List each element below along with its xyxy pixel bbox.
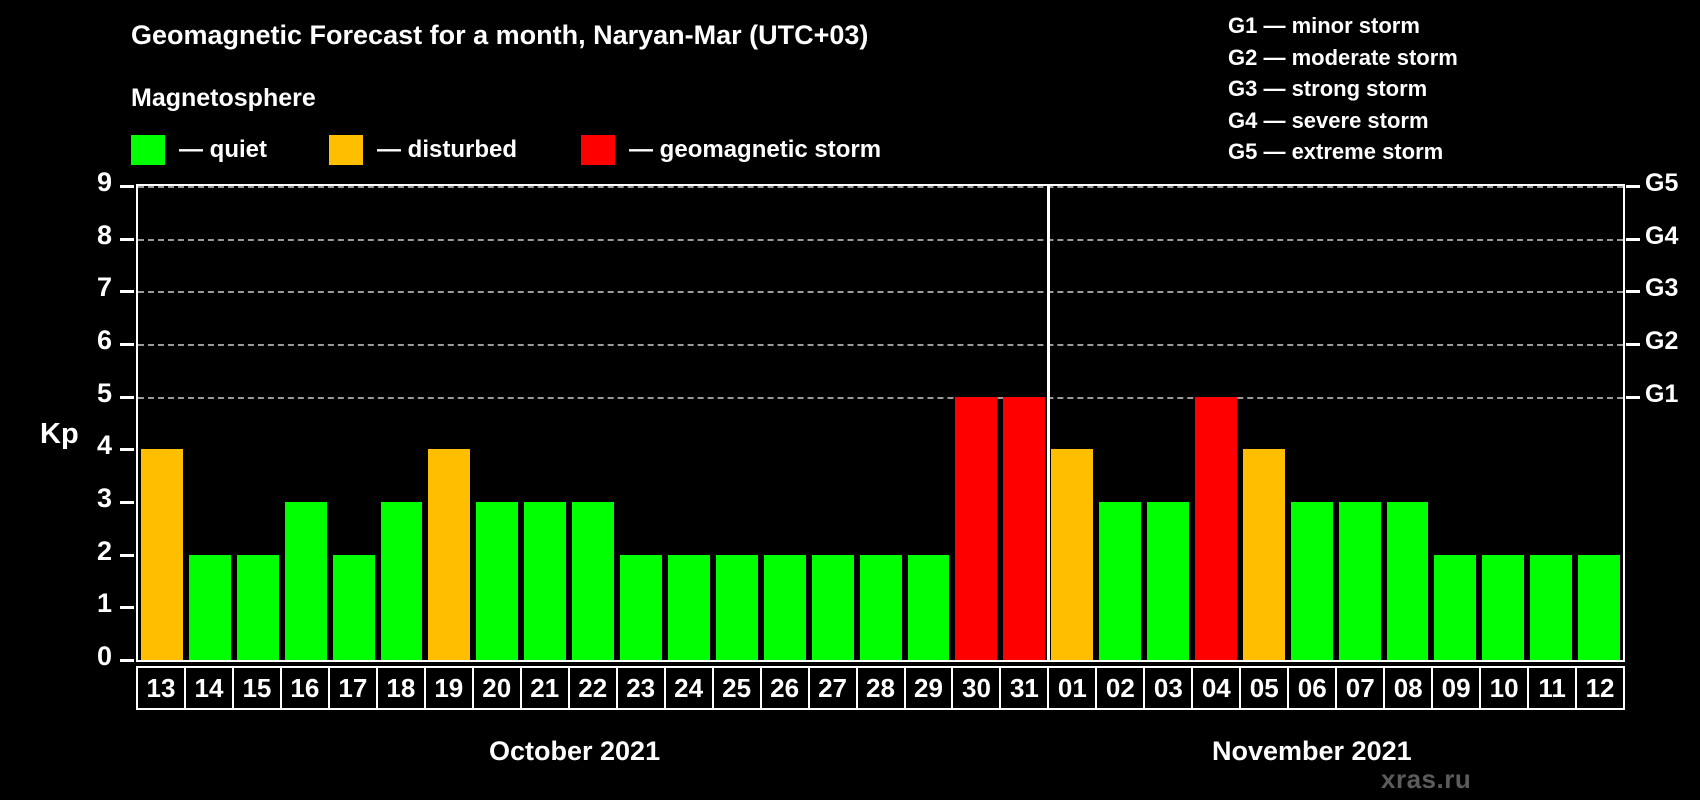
bar-cell[interactable] [617, 186, 665, 660]
y-tick-mark [120, 343, 134, 346]
bar[interactable] [1434, 555, 1476, 660]
bar[interactable] [860, 555, 902, 660]
gscale-line: G2 — moderate storm [1228, 42, 1458, 74]
y-tick-label: 3 [62, 483, 112, 514]
day-label-cell[interactable]: 02 [1095, 666, 1145, 710]
bar-cell[interactable] [138, 186, 186, 660]
y-tick-mark [120, 238, 134, 241]
chart-page: Geomagnetic Forecast for a month, Naryan… [0, 0, 1700, 800]
g-tick-mark [1626, 343, 1640, 346]
bar[interactable] [764, 555, 806, 660]
day-label-cell[interactable]: 11 [1527, 666, 1577, 710]
bar[interactable] [1003, 397, 1045, 660]
bar[interactable] [1530, 555, 1572, 660]
bar-cell[interactable] [521, 186, 569, 660]
bar[interactable] [1195, 397, 1237, 660]
y-tick-mark [120, 185, 134, 188]
bar-cell[interactable] [1527, 186, 1575, 660]
watermark: xras.ru [1381, 764, 1471, 795]
legend-item-label: — disturbed [377, 136, 517, 164]
bar-cell[interactable] [713, 186, 761, 660]
day-label-cell[interactable]: 13 [136, 666, 186, 710]
day-label-cell[interactable]: 23 [616, 666, 666, 710]
bar[interactable] [1147, 502, 1189, 660]
day-label-cell[interactable]: 14 [184, 666, 234, 710]
disturbed-swatch [329, 135, 363, 165]
bar-cell[interactable] [1048, 186, 1096, 660]
g-tick-label: G3 [1645, 274, 1678, 303]
legend-item: — disturbed [329, 135, 517, 165]
day-label-cell[interactable]: 18 [376, 666, 426, 710]
y-tick-mark [120, 448, 134, 451]
bar-cell[interactable] [1288, 186, 1336, 660]
day-label-cell[interactable]: 20 [472, 666, 522, 710]
day-label-cell[interactable]: 26 [760, 666, 810, 710]
day-label-cell[interactable]: 04 [1191, 666, 1241, 710]
day-axis: 1314151617181920212223242526272829303101… [136, 666, 1625, 710]
bar[interactable] [237, 555, 279, 660]
y-tick-mark [120, 606, 134, 609]
bar-cell[interactable] [1336, 186, 1384, 660]
g-tick-label: G5 [1645, 169, 1678, 198]
bar-cell[interactable] [1096, 186, 1144, 660]
bar-cell[interactable] [234, 186, 282, 660]
day-label-cell[interactable]: 07 [1335, 666, 1385, 710]
bar[interactable] [524, 502, 566, 660]
bar-cell[interactable] [1575, 186, 1623, 660]
y-tick-label: 4 [62, 430, 112, 461]
bar[interactable] [908, 555, 950, 660]
bar-cell[interactable] [569, 186, 617, 660]
bar[interactable] [668, 555, 710, 660]
g-tick-mark [1626, 238, 1640, 241]
bar-cell[interactable] [1431, 186, 1479, 660]
bar-cell[interactable] [761, 186, 809, 660]
y-tick-mark [120, 554, 134, 557]
month-label-october: October 2021 [489, 736, 660, 767]
bar-cell[interactable] [857, 186, 905, 660]
day-label-cell[interactable]: 29 [904, 666, 954, 710]
storm-swatch [581, 135, 615, 165]
bar-cell[interactable] [1240, 186, 1288, 660]
day-label-cell[interactable]: 08 [1383, 666, 1433, 710]
bar-cell[interactable] [809, 186, 857, 660]
bar-cell[interactable] [1192, 186, 1240, 660]
bar-cell[interactable] [1479, 186, 1527, 660]
day-label-cell[interactable]: 16 [280, 666, 330, 710]
month-label-november: November 2021 [1212, 736, 1412, 767]
day-label-cell[interactable]: 21 [520, 666, 570, 710]
bar-series [138, 186, 1623, 660]
bar[interactable] [812, 555, 854, 660]
bar[interactable] [955, 397, 997, 660]
y-tick-mark [120, 396, 134, 399]
g-tick-mark [1626, 290, 1640, 293]
bar[interactable] [1291, 502, 1333, 660]
y-tick-mark [120, 290, 134, 293]
legend: — quiet— disturbed— geomagnetic storm [131, 133, 881, 167]
day-label-cell[interactable]: 17 [328, 666, 378, 710]
bar[interactable] [620, 555, 662, 660]
bar-cell[interactable] [425, 186, 473, 660]
bar[interactable] [572, 502, 614, 660]
g-tick-label: G2 [1645, 327, 1678, 356]
day-label-cell[interactable]: 30 [951, 666, 1001, 710]
month-separator [1047, 186, 1050, 660]
day-label-cell[interactable]: 10 [1479, 666, 1529, 710]
bar[interactable] [1387, 502, 1429, 660]
legend-item: — quiet [131, 135, 267, 165]
y-tick-label: 6 [62, 325, 112, 356]
bar-cell[interactable] [1144, 186, 1192, 660]
day-label-cell[interactable]: 01 [1047, 666, 1097, 710]
gscale-legend: G1 — minor stormG2 — moderate stormG3 — … [1228, 10, 1458, 168]
gscale-line: G1 — minor storm [1228, 10, 1458, 42]
bar-cell[interactable] [473, 186, 521, 660]
day-label-cell[interactable]: 22 [568, 666, 618, 710]
bar-cell[interactable] [1384, 186, 1432, 660]
quiet-swatch [131, 135, 165, 165]
section-label-magnetosphere: Magnetosphere [131, 84, 316, 113]
bar[interactable] [141, 449, 183, 660]
day-label-cell[interactable]: 31 [999, 666, 1049, 710]
bar[interactable] [285, 502, 327, 660]
bar[interactable] [333, 555, 375, 660]
day-label-cell[interactable]: 06 [1287, 666, 1337, 710]
page-title: Geomagnetic Forecast for a month, Naryan… [131, 20, 868, 51]
bar-cell[interactable] [186, 186, 234, 660]
bar-cell[interactable] [665, 186, 713, 660]
g-tick-mark [1626, 185, 1640, 188]
legend-item-label: — quiet [179, 136, 267, 164]
y-tick-label: 7 [62, 272, 112, 303]
y-tick-label: 5 [62, 378, 112, 409]
bar[interactable] [476, 502, 518, 660]
day-label-cell[interactable]: 09 [1431, 666, 1481, 710]
bar[interactable] [189, 555, 231, 660]
y-tick-label: 8 [62, 220, 112, 251]
bar-cell[interactable] [952, 186, 1000, 660]
bar-cell[interactable] [330, 186, 378, 660]
y-tick-mark [120, 659, 134, 662]
bar[interactable] [716, 555, 758, 660]
g-tick-label: G4 [1645, 222, 1678, 251]
bar-cell[interactable] [905, 186, 953, 660]
bar-cell[interactable] [282, 186, 330, 660]
day-label-cell[interactable]: 12 [1575, 666, 1625, 710]
bar-cell[interactable] [378, 186, 426, 660]
gscale-line: G4 — severe storm [1228, 105, 1458, 137]
g-tick-label: G1 [1645, 380, 1678, 409]
gscale-line: G5 — extreme storm [1228, 136, 1458, 168]
bar[interactable] [1051, 449, 1093, 660]
legend-item: — geomagnetic storm [581, 135, 881, 165]
day-label-cell[interactable]: 05 [1239, 666, 1289, 710]
y-tick-mark [120, 501, 134, 504]
y-tick-label: 1 [62, 588, 112, 619]
day-label-cell[interactable]: 25 [712, 666, 762, 710]
bar[interactable] [1482, 555, 1524, 660]
y-tick-label: 9 [62, 167, 112, 198]
day-label-cell[interactable]: 28 [856, 666, 906, 710]
bar[interactable] [1243, 449, 1285, 660]
bar[interactable] [1339, 502, 1381, 660]
bar[interactable] [428, 449, 470, 660]
legend-item-label: — geomagnetic storm [629, 136, 881, 164]
bar[interactable] [1578, 555, 1620, 660]
y-tick-label: 0 [62, 641, 112, 672]
day-label-cell[interactable]: 19 [424, 666, 474, 710]
y-tick-label: 2 [62, 536, 112, 567]
bar[interactable] [1099, 502, 1141, 660]
plot-area [136, 184, 1625, 662]
day-label-cell[interactable]: 27 [808, 666, 858, 710]
g-tick-mark [1626, 396, 1640, 399]
gscale-line: G3 — strong storm [1228, 73, 1458, 105]
day-label-cell[interactable]: 03 [1143, 666, 1193, 710]
bar[interactable] [381, 502, 423, 660]
bar-cell[interactable] [1000, 186, 1048, 660]
day-label-cell[interactable]: 24 [664, 666, 714, 710]
day-label-cell[interactable]: 15 [232, 666, 282, 710]
